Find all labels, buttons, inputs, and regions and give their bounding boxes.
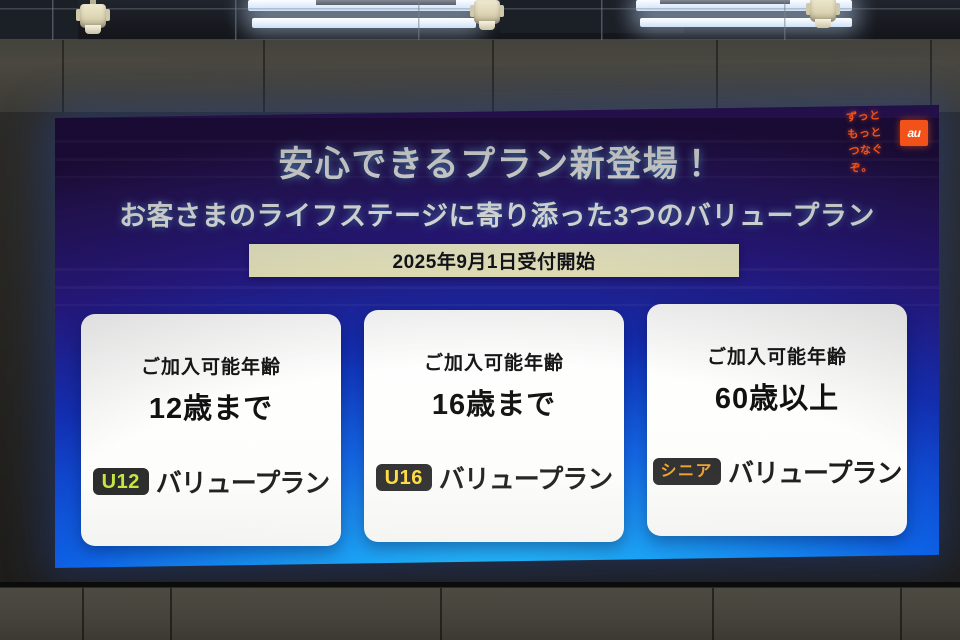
plan-name-row: シニア バリュープラン: [653, 453, 902, 490]
wall-seam: [440, 588, 442, 640]
wall-seam: [170, 588, 172, 640]
card-age-value: 16歳まで: [432, 381, 556, 423]
plan-badge: U12: [93, 468, 149, 495]
card-age-label: ご加入可能年齢: [424, 348, 564, 375]
au-tagline-line-3: つなぐぞ。: [848, 140, 906, 178]
wall-seam: [900, 588, 902, 640]
au-tagline: ずっと もっと つなぐぞ。: [846, 106, 907, 178]
plan-card-u16: ご加入可能年齢 16歳まで U16 バリュープラン: [364, 310, 624, 542]
plan-badge: シニア: [653, 458, 722, 485]
plan-name-row: U12 バリュープラン: [93, 463, 329, 500]
wall-seam: [492, 40, 494, 114]
slide-subheadline: お客さまのライフステージに寄り添った3つのバリュープラン: [55, 194, 939, 233]
au-mark: au: [900, 120, 928, 146]
card-age-value: 12歳まで: [149, 385, 273, 427]
plan-badge: U16: [376, 464, 432, 491]
au-brand-logo: ずっと もっと つなぐぞ。 au: [848, 106, 934, 174]
projected-slide: 安心できるプラン新登場！ お客さまのライフステージに寄り添った3つのバリュープラ…: [55, 105, 939, 568]
wall-seam: [716, 40, 718, 114]
lower-wall: [0, 582, 960, 640]
date-banner-text: 2025年9月1日受付開始: [393, 247, 596, 274]
upper-wall: [0, 40, 960, 114]
wall-seam: [263, 40, 265, 114]
plan-card-senior: ご加入可能年齢 60歳以上 シニア バリュープラン: [647, 304, 907, 536]
plan-card-u12: ご加入可能年齢 12歳まで U12 バリュープラン: [81, 314, 341, 546]
date-banner: 2025年9月1日受付開始: [249, 244, 739, 277]
ceiling-spotlight: [806, 0, 840, 30]
slide-headline: 安心できるプラン新登場！: [55, 136, 939, 187]
card-age-label: ご加入可能年齢: [141, 352, 281, 379]
room-photo-scene: 安心できるプラン新登場！ お客さまのライフステージに寄り添った3つのバリュープラ…: [0, 0, 960, 640]
plan-name: バリュープラン: [728, 453, 901, 490]
wall-seam: [930, 40, 932, 114]
projector-scanline: [55, 286, 939, 289]
card-age-label: ご加入可能年齢: [707, 342, 847, 369]
ceiling-spotlight: [76, 0, 110, 36]
wall-seam: [712, 588, 714, 640]
ceiling: [0, 0, 960, 40]
plan-name: バリュープラン: [439, 459, 612, 496]
plan-name: バリュープラン: [156, 463, 329, 500]
ceiling-spotlight: [470, 0, 504, 32]
au-mark-text: au: [907, 126, 920, 140]
card-age-value: 60歳以上: [715, 375, 839, 417]
plan-name-row: U16 バリュープラン: [376, 459, 612, 496]
wall-seam: [62, 40, 64, 114]
wall-seam: [82, 588, 84, 640]
